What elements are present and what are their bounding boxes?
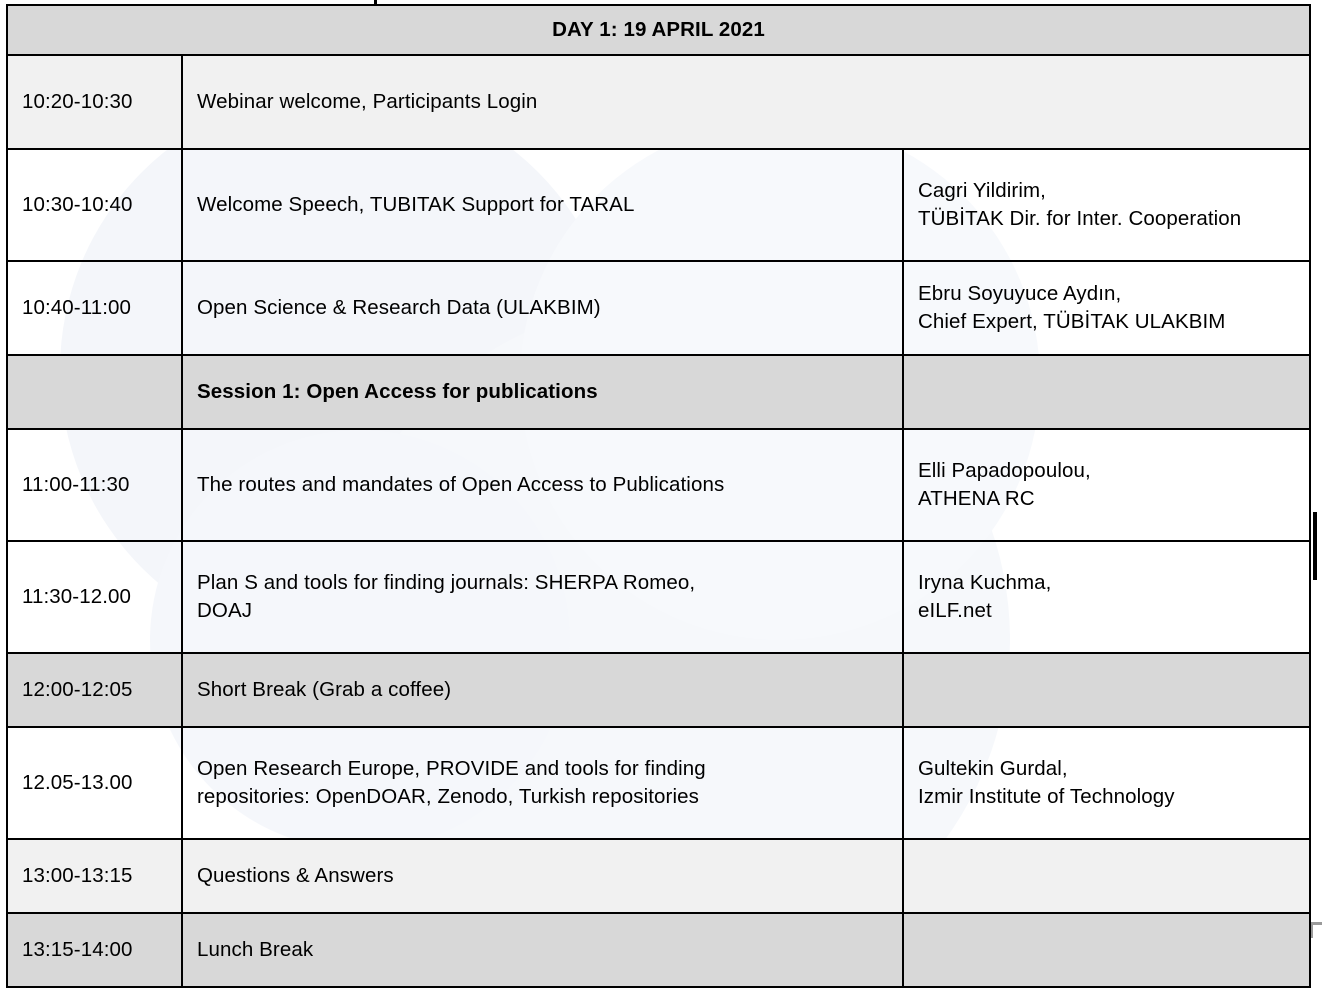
session-speaker: Cagri Yildirim, TÜBİTAK Dir. for Inter. … [903,149,1310,261]
session-topic: Plan S and tools for finding journals: S… [182,541,903,653]
session-speaker [903,913,1310,987]
session-speaker: Elli Papadopoulou, ATHENA RC [903,429,1310,541]
agenda-table: DAY 1: 19 APRIL 2021 10:20-10:30 Webinar… [6,4,1311,988]
session-topic: The routes and mandates of Open Access t… [182,429,903,541]
scan-artifact-right-mark [1313,512,1317,580]
session-speaker: Gultekin Gurdal, Izmir Institute of Tech… [903,727,1310,839]
table-row-day-header: DAY 1: 19 APRIL 2021 [7,5,1310,55]
session-topic: Lunch Break [182,913,903,987]
document-page: DAY 1: 19 APRIL 2021 10:20-10:30 Webinar… [0,0,1322,938]
day-header-title: DAY 1: 19 APRIL 2021 [7,5,1310,55]
session-time: 13:00-13:15 [7,839,182,913]
session-time: 12:00-12:05 [7,653,182,727]
session-header-time [7,355,182,429]
table-row: 11:30-12.00 Plan S and tools for finding… [7,541,1310,653]
session-header-title: Session 1: Open Access for publications [182,355,903,429]
table-row: 11:00-11:30 The routes and mandates of O… [7,429,1310,541]
session-topic: Questions & Answers [182,839,903,913]
table-row-session-header: Session 1: Open Access for publications [7,355,1310,429]
session-speaker [903,653,1310,727]
session-topic: Open Science & Research Data (ULAKBIM) [182,261,903,355]
session-topic: Welcome Speech, TUBITAK Support for TARA… [182,149,903,261]
session-time: 10:40-11:00 [7,261,182,355]
session-topic: Open Research Europe, PROVIDE and tools … [182,727,903,839]
session-time: 11:30-12.00 [7,541,182,653]
table-row: 13:15-14:00 Lunch Break [7,913,1310,987]
table-row: 13:00-13:15 Questions & Answers [7,839,1310,913]
session-time: 10:20-10:30 [7,55,182,149]
session-speaker: Iryna Kuchma, eILF.net [903,541,1310,653]
session-time: 11:00-11:30 [7,429,182,541]
table-row: 12:00-12:05 Short Break (Grab a coffee) [7,653,1310,727]
session-speaker: Ebru Soyuyuce Aydın, Chief Expert, TÜBİT… [903,261,1310,355]
table-row: 10:20-10:30 Webinar welcome, Participant… [7,55,1310,149]
scan-artifact-corner-mark [1310,922,1322,925]
session-header-speaker [903,355,1310,429]
session-time: 10:30-10:40 [7,149,182,261]
table-row: 10:40-11:00 Open Science & Research Data… [7,261,1310,355]
session-topic: Webinar welcome, Participants Login [182,55,1310,149]
session-time: 13:15-14:00 [7,913,182,987]
session-topic: Short Break (Grab a coffee) [182,653,903,727]
table-row: 12.05-13.00 Open Research Europe, PROVID… [7,727,1310,839]
session-speaker [903,839,1310,913]
session-time: 12.05-13.00 [7,727,182,839]
table-row: 10:30-10:40 Welcome Speech, TUBITAK Supp… [7,149,1310,261]
